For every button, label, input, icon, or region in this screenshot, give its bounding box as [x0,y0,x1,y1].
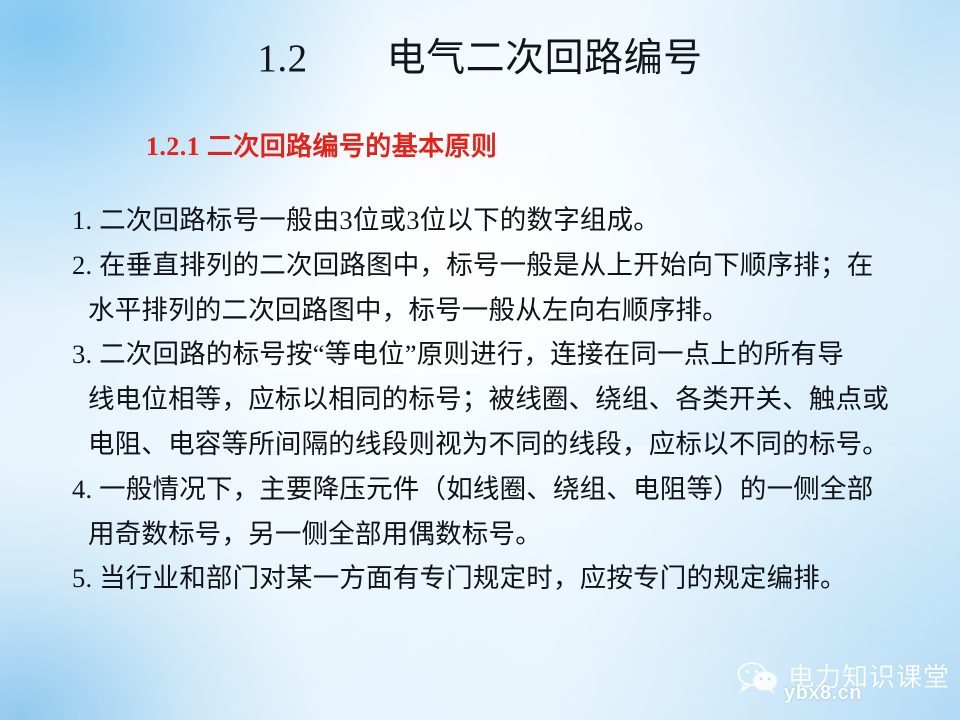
body-line: 水平排列的二次回路图中，标号一般从左向右顺序排。 [72,288,908,333]
watermark-url-text: ybx8.cn [784,682,862,704]
body-line: 5. 当行业和部门对某一方面有专门规定时，应按专门的规定编排。 [72,556,908,601]
page-title: 1.2 电气二次回路编号 [0,34,960,84]
body-line: 用奇数标号，另一侧全部用偶数标号。 [72,512,908,557]
section-heading: 1.2.1 二次回路编号的基本原则 [146,130,497,164]
watermark: 电力知识课堂 ybx8.cn [736,656,950,706]
wechat-icon [736,660,782,698]
body-content: 1. 二次回路标号一般由3位或3位以下的数字组成。 2. 在垂直排列的二次回路图… [72,198,908,601]
body-line: 线电位相等，应标以相同的标号；被线圈、绕组、各类开关、触点或 [72,377,908,422]
body-line: 4. 一般情况下，主要降压元件（如线圈、绕组、电阻等）的一侧全部 [72,467,908,512]
body-line: 3. 二次回路的标号按“等电位”原则进行，连接在同一点上的所有导 [72,332,908,377]
body-line: 2. 在垂直排列的二次回路图中，标号一般是从上开始向下顺序排；在 [72,243,908,288]
body-line: 1. 二次回路标号一般由3位或3位以下的数字组成。 [72,198,908,243]
body-line: 电阻、电容等所间隔的线段则视为不同的线段，应标以不同的标号。 [72,422,908,467]
presentation-slide: 1.2 电气二次回路编号 1.2.1 二次回路编号的基本原则 1. 二次回路标号… [0,0,960,720]
